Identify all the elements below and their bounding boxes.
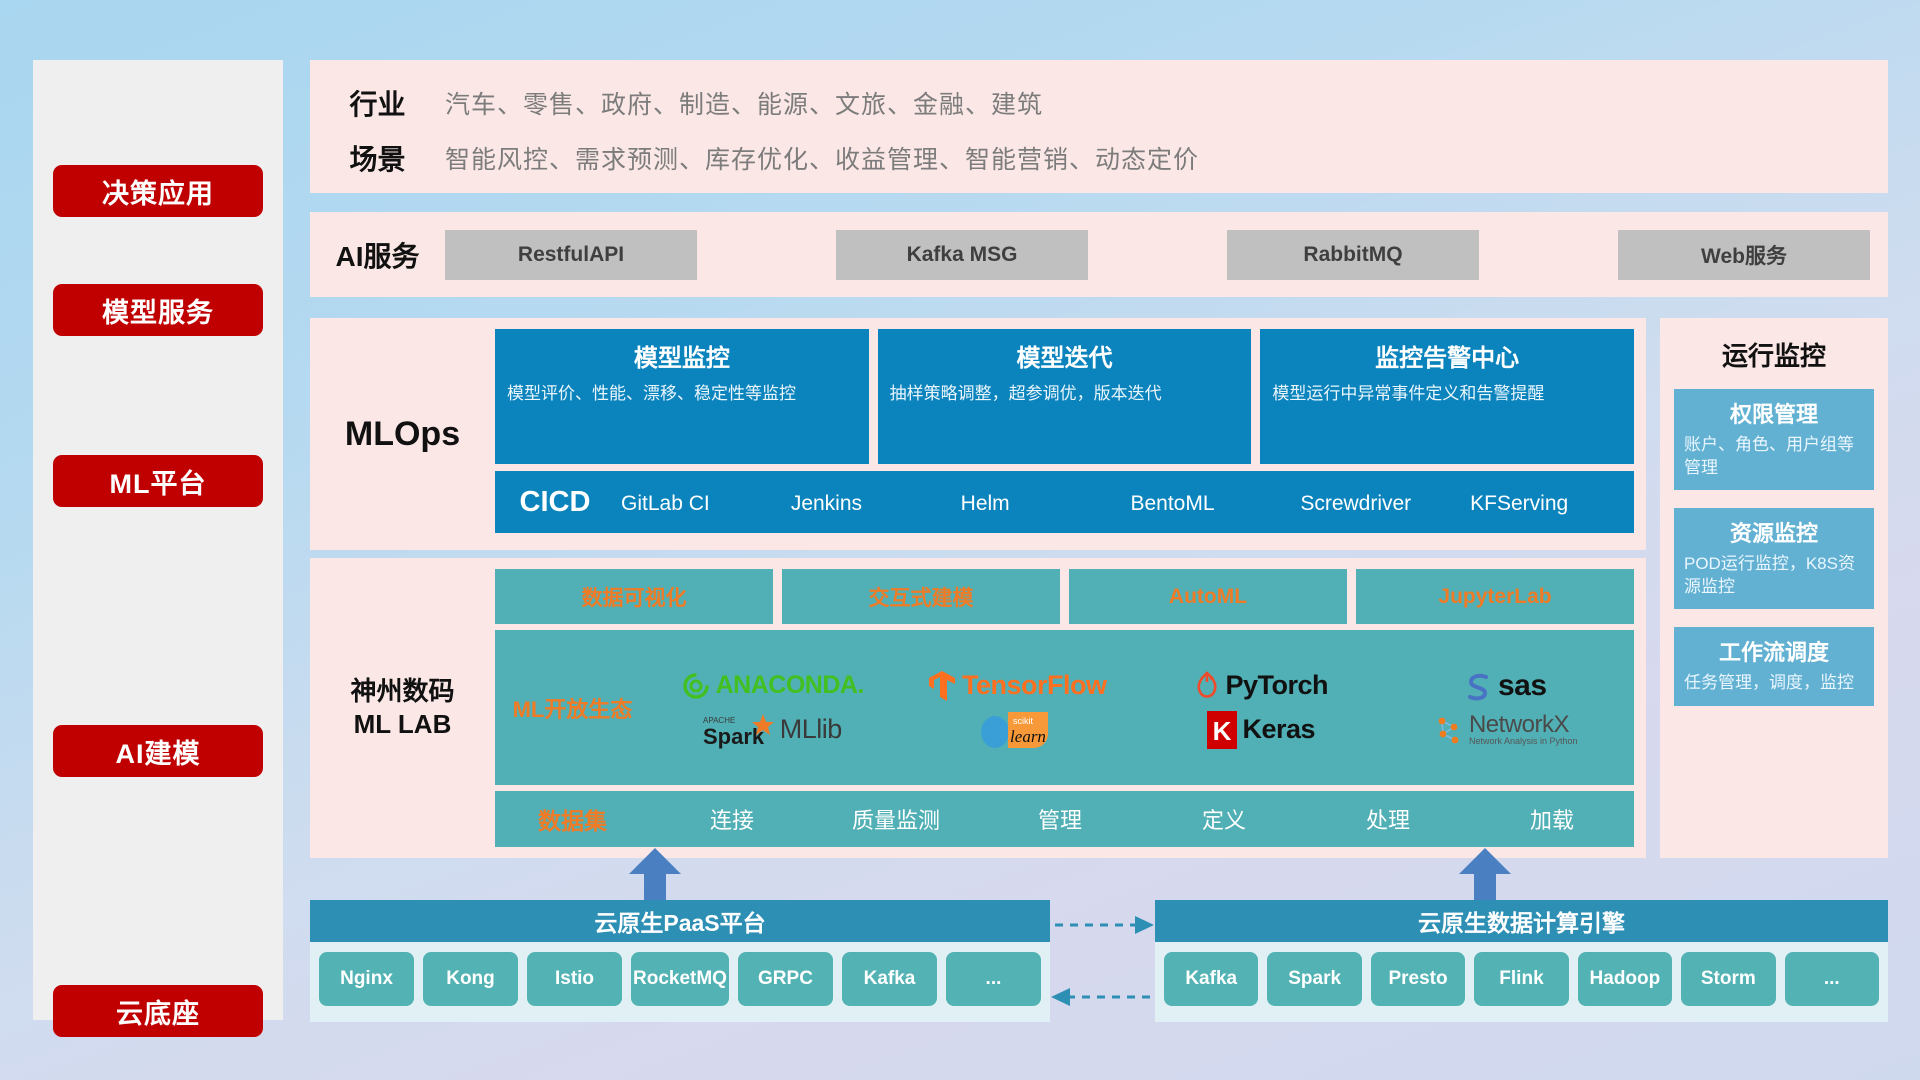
ai-modeling-panel: 神州数码 ML LAB 数据可视化 交互式建模 AutoML JupyterLa…: [310, 558, 1646, 858]
mlops-card-model-iteration[interactable]: 模型迭代 抽样策略调整，超参调优，版本迭代: [878, 329, 1252, 464]
runtime-monitor-title: 运行监控: [1674, 336, 1874, 373]
networkx-icon: [1434, 714, 1464, 746]
rail-item-decision-app[interactable]: 决策应用: [53, 165, 263, 217]
tab-automl[interactable]: AutoML: [1069, 569, 1347, 624]
svg-text:learn: learn: [1010, 727, 1046, 746]
cloud-data-engine-block: 云原生数据计算引擎 Kafka Spark Presto Flink Hadoo…: [1155, 900, 1888, 1022]
up-arrow-right-icon: [1455, 848, 1515, 904]
card-title: 资源监控: [1684, 516, 1864, 548]
logo-label: NetworkX: [1469, 713, 1578, 737]
card-desc: 模型运行中异常事件定义和告警提醒: [1272, 382, 1622, 406]
ai-service-items: RestfulAPI Kafka MSG RabbitMQ Web服务: [445, 230, 1888, 280]
card-title: 权限管理: [1684, 397, 1864, 429]
card-title: 监控告警中心: [1272, 338, 1622, 373]
dataset-item-quality-monitor[interactable]: 质量监测: [814, 803, 978, 835]
cloud-chip-kafka[interactable]: Kafka: [1164, 952, 1258, 1006]
mlops-label: MLOps: [310, 318, 495, 550]
pytorch-icon: [1194, 670, 1220, 702]
rail-item-cloud-base[interactable]: 云底座: [53, 985, 263, 1037]
mlops-cards: 模型监控 模型评价、性能、漂移、稳定性等监控 模型迭代 抽样策略调整，超参调优，…: [495, 329, 1634, 464]
ml-open-ecosystem-bar: ML开放生态 ANACONDA. TensorFlow: [495, 630, 1634, 785]
scenario-value: 智能风控、需求预测、库存优化、收益管理、智能营销、动态定价: [445, 140, 1199, 176]
ml-lab-label-line2: ML LAB: [354, 708, 452, 741]
cloud-data-engine-chips: Kafka Spark Presto Flink Hadoop Storm ..…: [1155, 942, 1888, 1016]
card-title: 工作流调度: [1684, 635, 1864, 667]
card-desc: POD运行监控，K8S资源监控: [1684, 553, 1864, 598]
networkx-tagline: Network Analysis in Python: [1469, 737, 1578, 746]
industry-value: 汽车、零售、政府、制造、能源、文旅、金融、建筑: [445, 85, 1043, 121]
keras-icon: K: [1207, 711, 1237, 749]
cloud-chip-flink[interactable]: Flink: [1474, 952, 1568, 1006]
cloud-chip-presto[interactable]: Presto: [1371, 952, 1465, 1006]
cicd-item-gitlab-ci[interactable]: GitLab CI: [615, 490, 785, 514]
rail-item-ai-modeling[interactable]: AI建模: [53, 725, 263, 777]
mlops-card-alert-center[interactable]: 监控告警中心 模型运行中异常事件定义和告警提醒: [1260, 329, 1634, 464]
industry-row: 行业 汽车、零售、政府、制造、能源、文旅、金融、建筑: [310, 77, 1888, 129]
dataset-item-process[interactable]: 处理: [1306, 803, 1470, 835]
cloud-chip-grpc[interactable]: GRPC: [738, 952, 833, 1006]
logo-label: Keras: [1242, 714, 1315, 745]
cloud-chip-kong[interactable]: Kong: [423, 952, 518, 1006]
cicd-item-kfserving[interactable]: KFServing: [1464, 490, 1634, 514]
dataset-item-manage[interactable]: 管理: [978, 803, 1142, 835]
dataset-item-connect[interactable]: 连接: [650, 803, 814, 835]
modeling-tabs: 数据可视化 交互式建模 AutoML JupyterLab: [495, 569, 1634, 624]
left-rail: 决策应用 模型服务 ML平台 AI建模 云底座: [33, 60, 283, 1020]
anaconda-icon: [681, 671, 711, 701]
cloud-paas-title: 云原生PaaS平台: [310, 900, 1050, 942]
rail-item-model-service[interactable]: 模型服务: [53, 284, 263, 336]
ai-service-panel: AI服务 RestfulAPI Kafka MSG RabbitMQ Web服务: [310, 212, 1888, 297]
svg-text:scikit: scikit: [1013, 716, 1033, 726]
cloud-data-engine-title: 云原生数据计算引擎: [1155, 900, 1888, 942]
cicd-item-jenkins[interactable]: Jenkins: [785, 490, 955, 514]
scenario-row: 场景 智能风控、需求预测、库存优化、收益管理、智能营销、动态定价: [310, 132, 1888, 184]
svg-text:Spark: Spark: [703, 724, 765, 749]
logo-label: sas: [1498, 669, 1547, 703]
card-desc: 任务管理，调度，监控: [1684, 672, 1864, 695]
runtime-monitor-panel: 运行监控 权限管理 账户、角色、用户组等管理 资源监控 POD运行监控，K8S资…: [1660, 318, 1888, 858]
logo-keras[interactable]: K Keras: [1207, 711, 1315, 749]
logo-label: TensorFlow: [962, 670, 1107, 701]
mlops-content: 模型监控 模型评价、性能、漂移、稳定性等监控 模型迭代 抽样策略调整，超参调优，…: [495, 318, 1646, 550]
cicd-item-screwdriver[interactable]: Screwdriver: [1294, 490, 1464, 514]
logo-spark-mllib[interactable]: APACHE Spark MLlib: [703, 711, 842, 749]
rail-item-ml-platform[interactable]: ML平台: [53, 455, 263, 507]
cloud-chip-more[interactable]: ...: [946, 952, 1041, 1006]
industry-label: 行业: [310, 83, 445, 123]
logo-networkx[interactable]: NetworkX Network Analysis in Python: [1434, 713, 1578, 746]
cloud-paas-chips: Nginx Kong Istio RocketMQ GRPC Kafka ...: [310, 942, 1050, 1016]
monitor-card-permission[interactable]: 权限管理 账户、角色、用户组等管理: [1674, 389, 1874, 490]
dataset-bar: 数据集 连接 质量监测 管理 定义 处理 加载: [495, 791, 1634, 847]
logo-label: PyTorch: [1225, 670, 1328, 701]
cloud-chip-rocketmq[interactable]: RocketMQ: [631, 952, 729, 1006]
ml-lab-label-line1: 神州数码: [350, 675, 454, 708]
dataset-item-define[interactable]: 定义: [1142, 803, 1306, 835]
tab-interactive-modeling[interactable]: 交互式建模: [782, 569, 1060, 624]
tensorflow-icon: [927, 669, 957, 703]
mlops-card-model-monitoring[interactable]: 模型监控 模型评价、性能、漂移、稳定性等监控: [495, 329, 869, 464]
tab-jupyterlab[interactable]: JupyterLab: [1356, 569, 1634, 624]
ai-service-chip-kafka-msg[interactable]: Kafka MSG: [836, 230, 1088, 280]
spark-icon: APACHE Spark: [703, 711, 775, 749]
logo-scikit-learn[interactable]: scikit learn: [978, 708, 1056, 752]
ml-lab-label: 神州数码 ML LAB: [310, 558, 495, 858]
up-arrow-left-icon: [625, 848, 685, 904]
ai-service-chip-restfulapi[interactable]: RestfulAPI: [445, 230, 697, 280]
cloud-chip-storm[interactable]: Storm: [1681, 952, 1775, 1006]
cicd-item-bentoml[interactable]: BentoML: [1124, 490, 1294, 514]
cicd-item-helm[interactable]: Helm: [955, 490, 1125, 514]
cloud-chip-nginx[interactable]: Nginx: [319, 952, 414, 1006]
cloud-paas-block: 云原生PaaS平台 Nginx Kong Istio RocketMQ GRPC…: [310, 900, 1050, 1022]
ai-service-chip-web-service[interactable]: Web服务: [1618, 230, 1870, 280]
cicd-bar: CICD GitLab CI Jenkins Helm BentoML Scre…: [495, 471, 1634, 533]
scenario-label: 场景: [310, 138, 445, 178]
ai-service-label: AI服务: [310, 235, 445, 275]
svg-text:K: K: [1213, 716, 1232, 746]
monitor-card-workflow[interactable]: 工作流调度 任务管理，调度，监控: [1674, 627, 1874, 706]
card-desc: 模型评价、性能、漂移、稳定性等监控: [507, 382, 857, 406]
logo-pytorch[interactable]: PyTorch: [1194, 670, 1328, 702]
logo-sas[interactable]: sas: [1465, 669, 1547, 703]
logo-label: MLlib: [780, 714, 842, 745]
dataset-items: 连接 质量监测 管理 定义 处理 加载: [650, 803, 1634, 835]
dataset-title: 数据集: [495, 802, 650, 836]
ai-service-chip-rabbitmq[interactable]: RabbitMQ: [1227, 230, 1479, 280]
card-desc: 抽样策略调整，超参调优，版本迭代: [890, 382, 1240, 406]
dataset-item-load[interactable]: 加载: [1470, 803, 1634, 835]
cicd-title: CICD: [495, 486, 615, 519]
card-desc: 账户、角色、用户组等管理: [1684, 434, 1864, 479]
cloud-chip-hadoop[interactable]: Hadoop: [1578, 952, 1672, 1006]
card-title: 模型监控: [507, 338, 857, 373]
sas-icon: [1465, 671, 1493, 701]
industry-scenario-panel: 行业 汽车、零售、政府、制造、能源、文旅、金融、建筑 场景 智能风控、需求预测、…: [310, 60, 1888, 193]
card-title: 模型迭代: [890, 338, 1240, 373]
mlops-panel: MLOps 模型监控 模型评价、性能、漂移、稳定性等监控 模型迭代 抽样策略调整…: [310, 318, 1646, 550]
cloud-chip-kafka[interactable]: Kafka: [842, 952, 937, 1006]
bidirectional-connector: [1050, 900, 1155, 1022]
logo-tensorflow[interactable]: TensorFlow: [927, 669, 1107, 703]
tab-data-visualization[interactable]: 数据可视化: [495, 569, 773, 624]
cloud-chip-spark[interactable]: Spark: [1267, 952, 1361, 1006]
logo-anaconda[interactable]: ANACONDA.: [681, 671, 864, 701]
logo-label: ANACONDA.: [716, 671, 864, 700]
monitor-card-resource[interactable]: 资源监控 POD运行监控，K8S资源监控: [1674, 508, 1874, 609]
cloud-chip-istio[interactable]: Istio: [527, 952, 622, 1006]
ml-open-ecosystem-label: ML开放生态: [495, 692, 650, 724]
cicd-items: GitLab CI Jenkins Helm BentoML Screwdriv…: [615, 490, 1634, 514]
scikit-learn-icon: scikit learn: [978, 708, 1056, 752]
cloud-chip-more[interactable]: ...: [1785, 952, 1879, 1006]
ecosystem-logos: ANACONDA. TensorFlow PyTorch: [650, 664, 1634, 752]
ai-modeling-content: 数据可视化 交互式建模 AutoML JupyterLab ML开放生态 ANA…: [495, 558, 1646, 858]
